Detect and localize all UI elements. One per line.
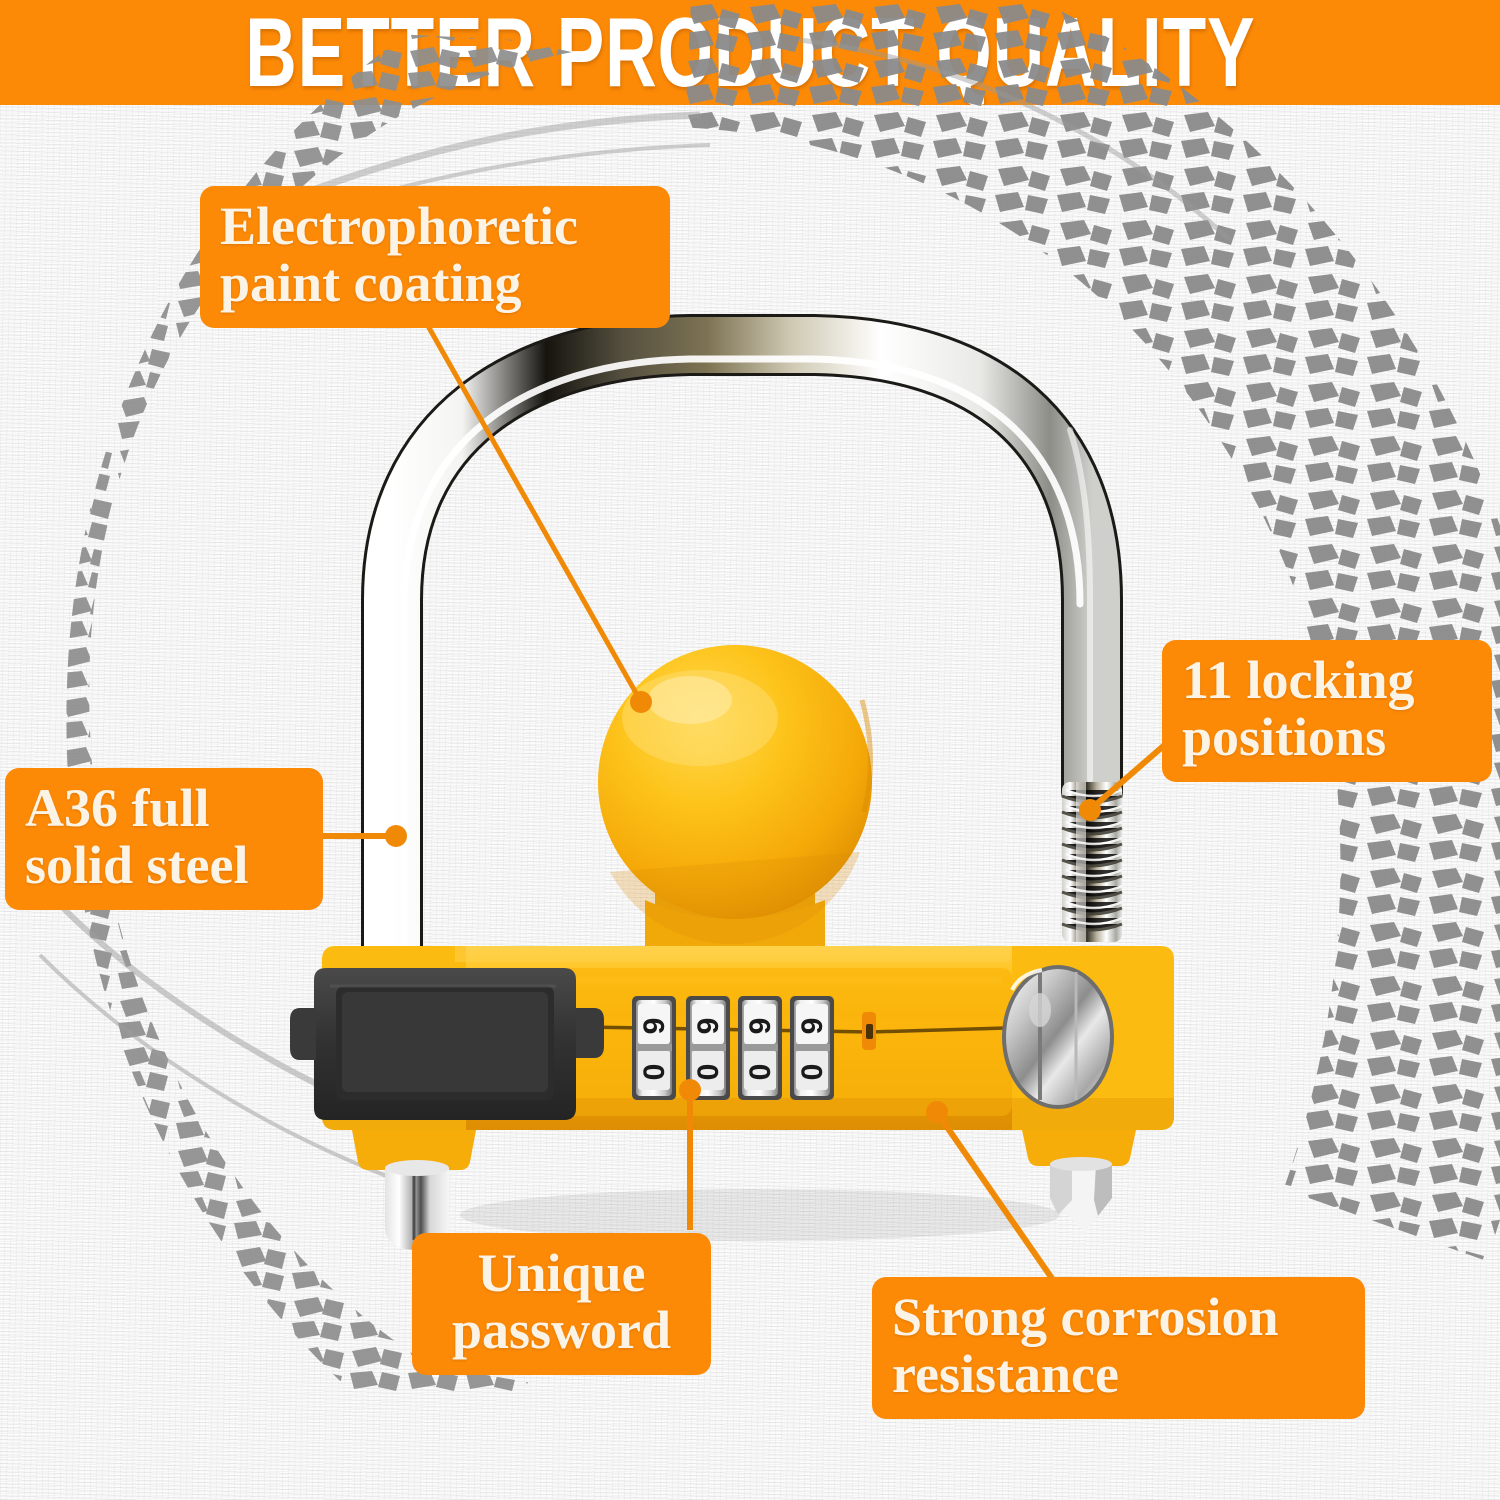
product-infographic: BETTER PRODUCT QUALITY — [0, 0, 1500, 1500]
svg-text:0: 0 — [796, 1064, 829, 1081]
svg-text:9: 9 — [692, 1018, 725, 1035]
svg-text:0: 0 — [638, 1064, 671, 1081]
label-a36-full-solid-steel: A36 full solid steel — [5, 768, 323, 910]
svg-text:9: 9 — [744, 1018, 777, 1035]
label-line-2: paint coating — [220, 255, 650, 312]
label-line-1: A36 full — [25, 780, 303, 837]
svg-text:9: 9 — [796, 1018, 829, 1035]
chrome-thumb-knob[interactable] — [1002, 965, 1114, 1109]
label-strong-corrosion-resistance: Strong corrosion resistance — [872, 1277, 1365, 1419]
threaded-adjustment-shaft — [1062, 782, 1122, 942]
chrome-pin-right — [1050, 1157, 1112, 1232]
dial-1: 9 0 — [632, 996, 676, 1100]
label-electrophoretic-paint-coating: Electrophoretic paint coating — [200, 186, 670, 328]
svg-text:0: 0 — [744, 1064, 777, 1081]
label-line-1: 11 locking — [1182, 652, 1472, 709]
label-line-2: positions — [1182, 709, 1472, 766]
svg-text:0: 0 — [692, 1064, 725, 1081]
rubber-dust-cover[interactable] — [290, 968, 604, 1120]
label-line-2: solid steel — [25, 837, 303, 894]
label-unique-password: Unique password — [412, 1233, 711, 1375]
label-line-1: Strong corrosion — [892, 1289, 1345, 1346]
label-11-locking-positions: 11 locking positions — [1162, 640, 1492, 782]
label-line-1: Unique — [432, 1245, 691, 1302]
label-line-2: resistance — [892, 1346, 1345, 1403]
dial-3: 9 0 — [738, 996, 782, 1100]
yellow-coupler-ball — [598, 645, 872, 952]
dial-4: 9 0 — [790, 996, 834, 1100]
svg-text:9: 9 — [638, 1018, 671, 1035]
label-line-1: Electrophoretic — [220, 198, 650, 255]
label-line-2: password — [432, 1302, 691, 1359]
dial-2: 9 0 — [686, 996, 730, 1100]
